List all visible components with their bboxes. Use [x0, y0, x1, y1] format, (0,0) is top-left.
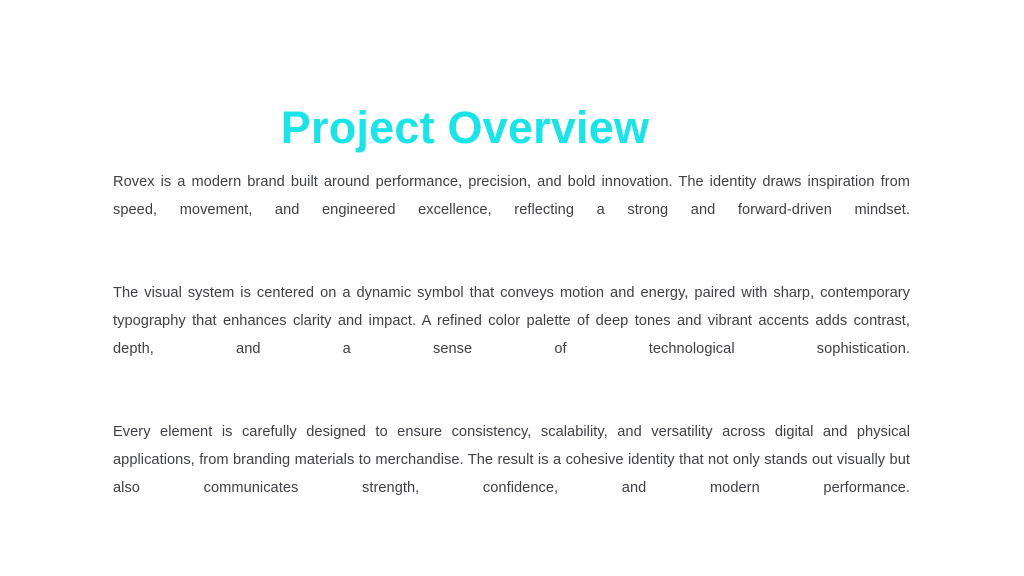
paragraph-visual-system: The visual system is centered on a dynam…	[113, 279, 910, 391]
presentation-slide: Project Overview Rovex is a modern brand…	[0, 0, 1024, 576]
paragraph-consistency: Every element is carefully designed to e…	[113, 418, 910, 530]
page-title: Project Overview	[0, 102, 930, 154]
body-text-block: Rovex is a modern brand built around per…	[113, 168, 910, 530]
paragraph-brand-intro: Rovex is a modern brand built around per…	[113, 168, 910, 252]
